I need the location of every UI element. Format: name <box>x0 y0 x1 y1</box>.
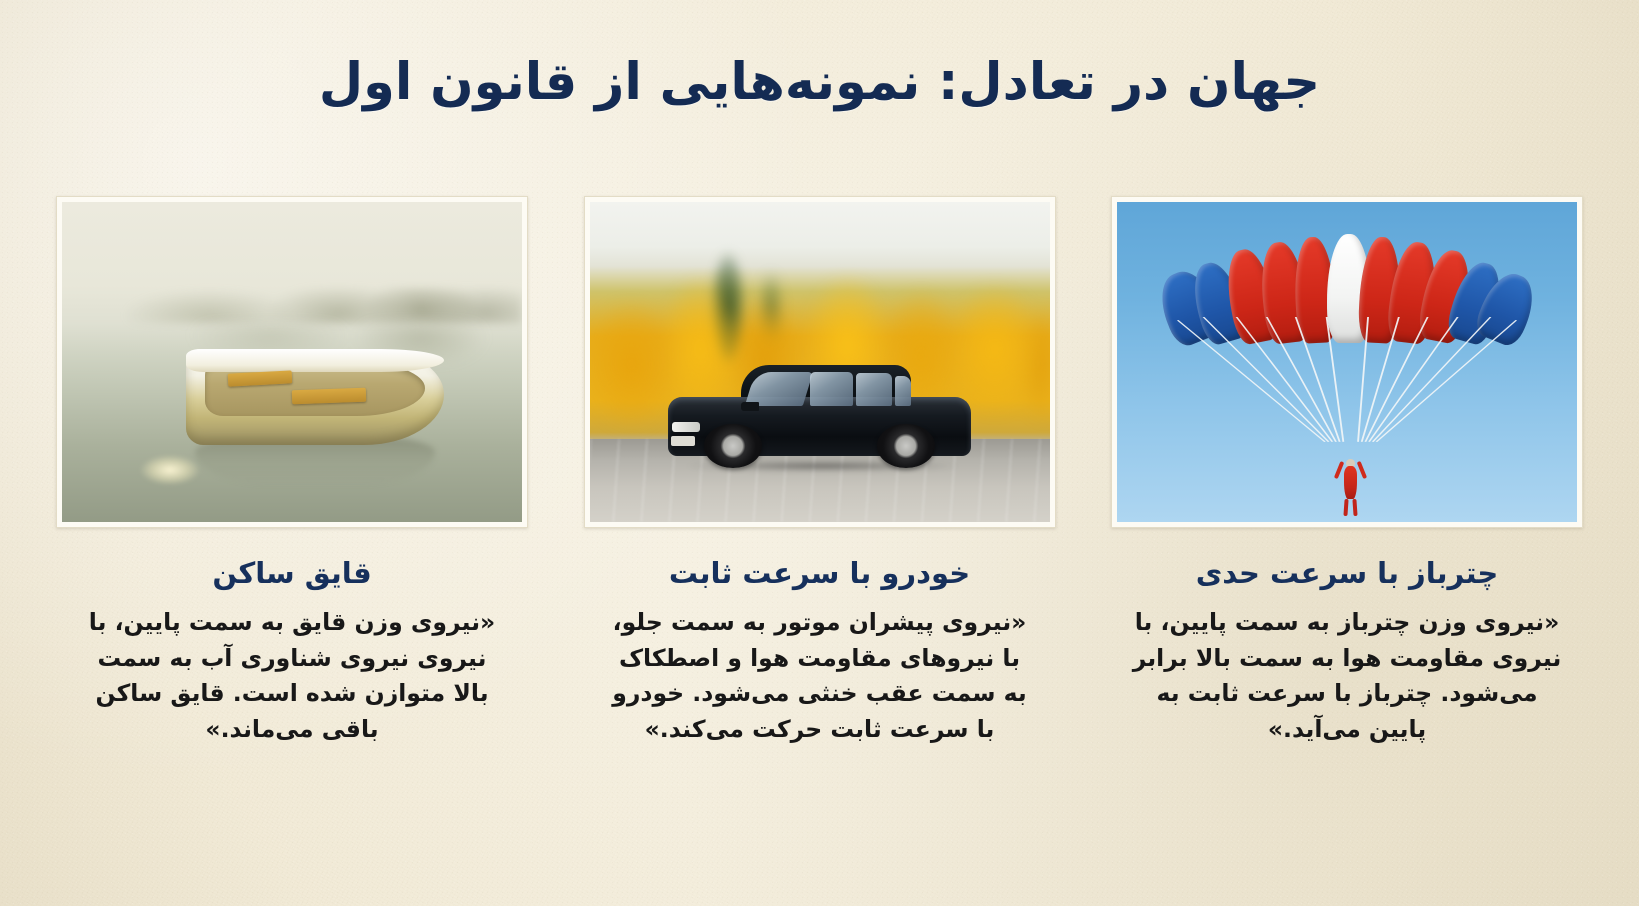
parachute-canopy-icon <box>1163 234 1531 343</box>
card-body-car: «نیروی پیشران موتور به سمت جلو، با نیروه… <box>605 605 1035 748</box>
card-title-boat: قایق ساکن <box>212 556 371 591</box>
boat-gunwale <box>186 349 444 371</box>
page-title: جهان در تعادل: نمونه‌هایی از قانون اول <box>0 52 1639 114</box>
distant-treeline <box>62 288 522 323</box>
boat-photo <box>62 202 522 522</box>
skydiver-figure-icon <box>1336 458 1366 512</box>
parachutist-photo <box>1117 202 1577 522</box>
parachutist-photo-frame <box>1111 196 1583 528</box>
slide-canvas: جهان در تعادل: نمونه‌هایی از قانون اول <box>0 0 1639 906</box>
boat-photo-frame <box>56 196 528 528</box>
car-icon <box>668 359 972 468</box>
example-card-car: خودرو با سرعت ثابت «نیروی پیشران موتور ب… <box>584 196 1056 748</box>
car-photo-frame <box>584 196 1056 528</box>
car-photo <box>590 202 1050 522</box>
examples-row: چترباز با سرعت حدی «نیروی وزن چترباز به … <box>56 196 1583 748</box>
card-body-boat: «نیروی وزن قایق به سمت پایین، با نیروی ن… <box>77 605 507 748</box>
example-card-parachutist: چترباز با سرعت حدی «نیروی وزن چترباز به … <box>1111 196 1583 748</box>
card-title-car: خودرو با سرعت ثابت <box>669 556 970 591</box>
example-card-boat: قایق ساکن «نیروی وزن قایق به سمت پایین، … <box>56 196 528 748</box>
sun-glare <box>140 455 200 485</box>
card-title-parachutist: چترباز با سرعت حدی <box>1196 556 1499 591</box>
card-body-parachutist: «نیروی وزن چترباز به سمت پایین، با نیروی… <box>1132 605 1562 748</box>
boat-seat-rear <box>292 388 366 405</box>
